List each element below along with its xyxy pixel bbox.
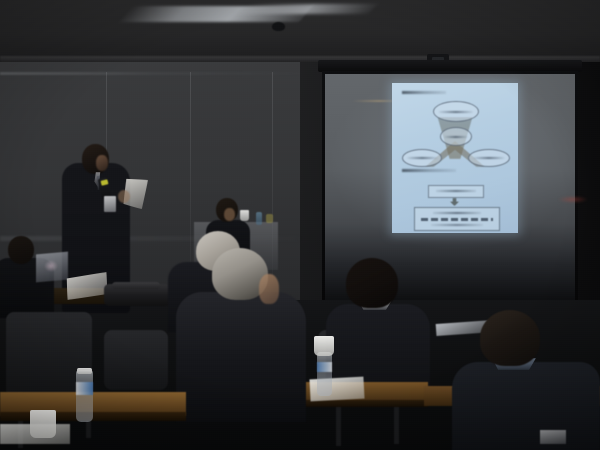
projected-slide: heading text (illegible) second heading … xyxy=(392,83,518,233)
arrow-down-icon xyxy=(450,198,459,206)
counter-object xyxy=(266,214,273,223)
person-laptop-head xyxy=(8,236,34,264)
laptop-screen-glow xyxy=(44,260,58,272)
photo-scene: heading text (illegible) second heading … xyxy=(0,0,600,450)
water-bottle-middle xyxy=(317,352,332,396)
diagram-node-left xyxy=(402,149,442,167)
water-bottle-foreground xyxy=(76,370,93,422)
projector-top xyxy=(112,282,160,289)
water-bottle-foreground-label xyxy=(76,382,93,395)
person-audience-front-body xyxy=(176,292,306,422)
ceiling-light-panel-secondary xyxy=(238,4,377,14)
counter-cup xyxy=(240,210,249,221)
water-bottle-middle-label xyxy=(317,362,332,372)
person-audience-right-pocket-paper xyxy=(540,430,566,444)
presenter-face xyxy=(96,155,108,171)
wall-panel-seam xyxy=(190,72,191,282)
person-audience-right-head xyxy=(480,310,540,366)
slide-section-line xyxy=(402,169,456,172)
presenter-hand xyxy=(118,190,130,203)
person-staff-face xyxy=(224,208,235,221)
chair xyxy=(104,330,168,390)
lens-flare xyxy=(558,196,588,203)
counter-bottle xyxy=(256,212,262,225)
water-bottle-foreground-cap xyxy=(77,368,92,374)
paper-cup-foreground xyxy=(30,410,56,438)
person-audience-front-hand xyxy=(259,274,279,304)
diagram-small-box xyxy=(428,185,484,198)
ceiling-speaker-icon xyxy=(272,22,285,31)
diagram-result-box xyxy=(414,207,500,231)
paper-cup-middle xyxy=(314,336,334,356)
person-audience-right-body xyxy=(452,362,600,450)
desk-foreground-edge xyxy=(0,412,186,421)
person-audience-center-head xyxy=(346,258,398,308)
name-badge xyxy=(104,196,116,212)
diagram-node-right xyxy=(468,149,510,167)
